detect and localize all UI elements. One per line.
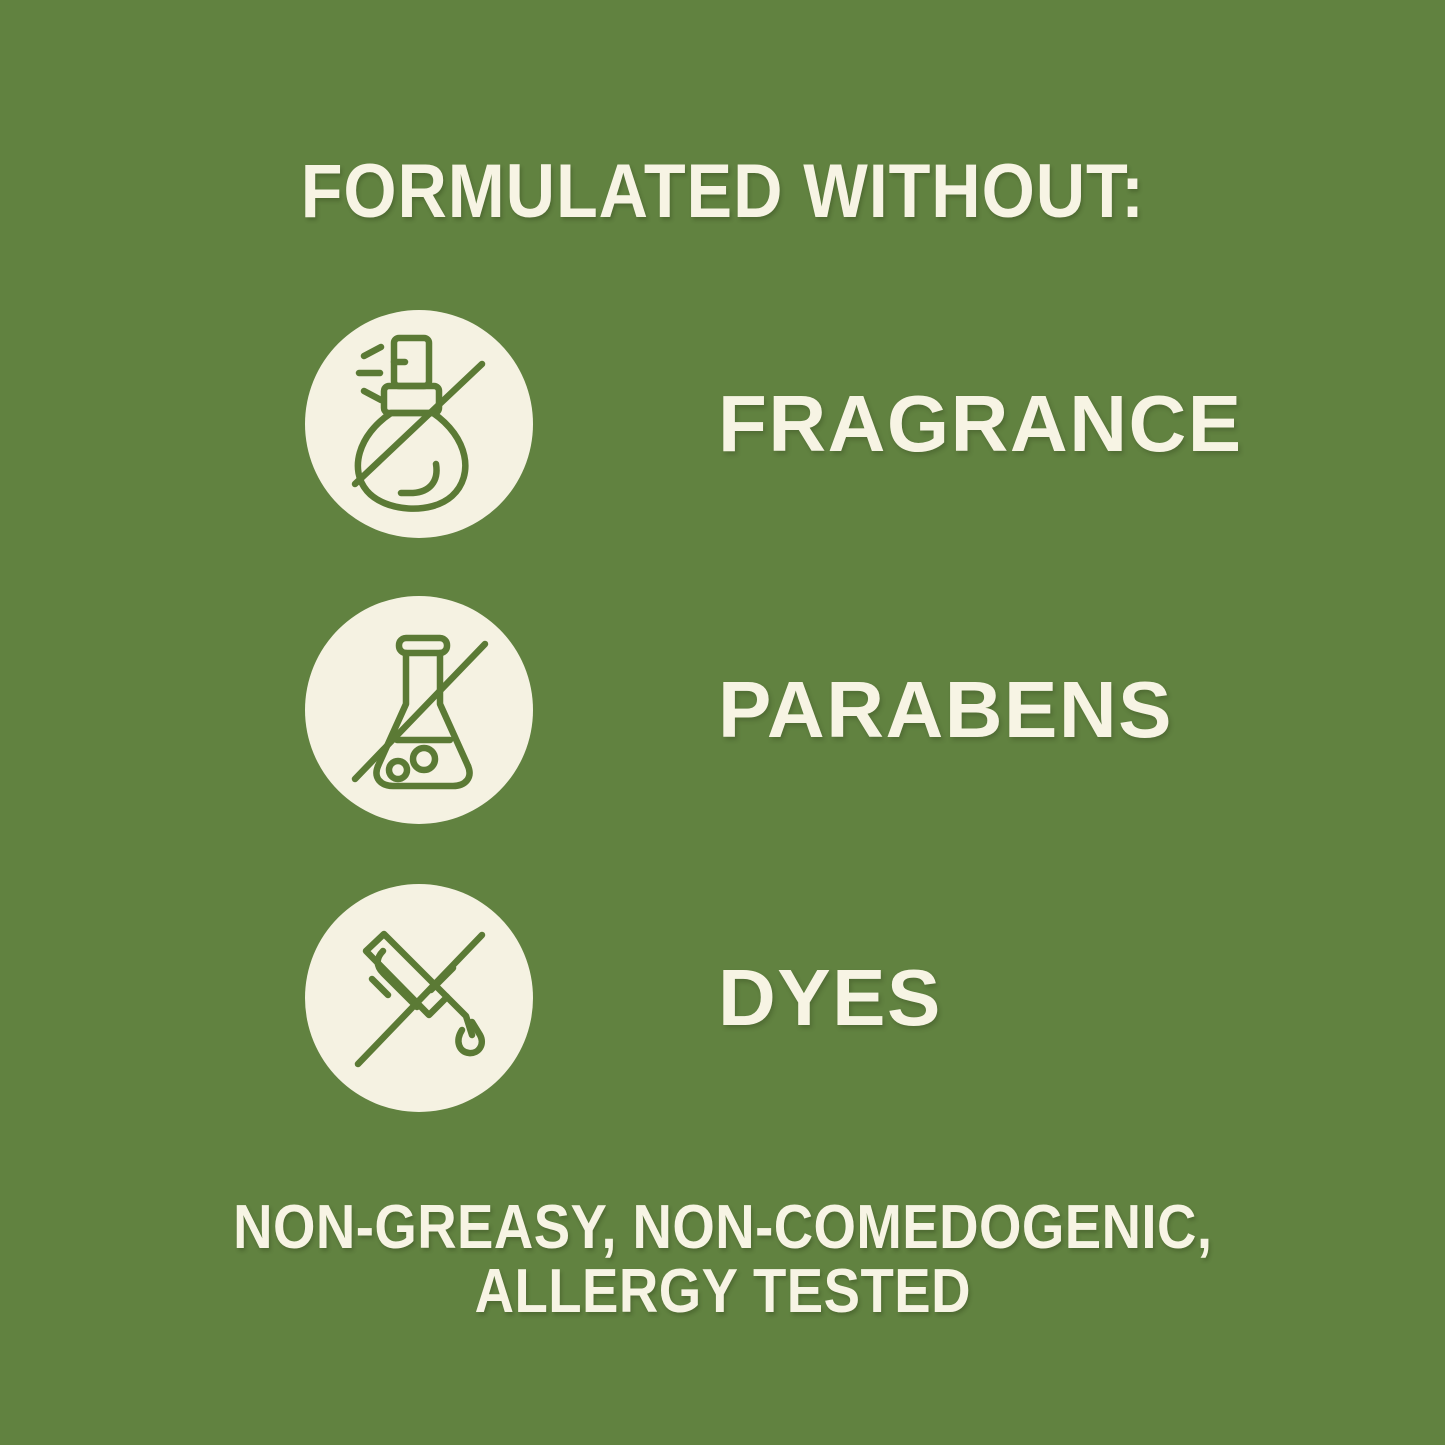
footer-line-2: ALLERGY TESTED [87,1260,1359,1324]
no-fragrance-badge [305,310,533,538]
benefit-row-fragrance: FRAGRANCE [0,310,1445,540]
formulated-without-poster: FORMULATED WITHOUT: [0,0,1445,1445]
no-dyes-badge [305,884,533,1112]
no-dyes-dropper-icon [305,884,533,1112]
no-parabens-flask-icon [305,596,533,824]
no-parabens-badge [305,596,533,824]
footer-claims: NON-GREASY, NON-COMEDOGENIC, ALLERGY TES… [87,1196,1359,1324]
benefit-label-dyes: DYES [718,884,942,1112]
no-fragrance-spray-bottle-icon [305,310,533,538]
benefit-row-parabens: PARABENS [0,596,1445,826]
footer-line-1: NON-GREASY, NON-COMEDOGENIC, [87,1196,1359,1260]
benefit-label-parabens: PARABENS [718,596,1173,824]
page-title: FORMULATED WITHOUT: [73,148,1374,235]
benefit-label-fragrance: FRAGRANCE [718,310,1243,538]
benefit-row-dyes: DYES [0,884,1445,1114]
